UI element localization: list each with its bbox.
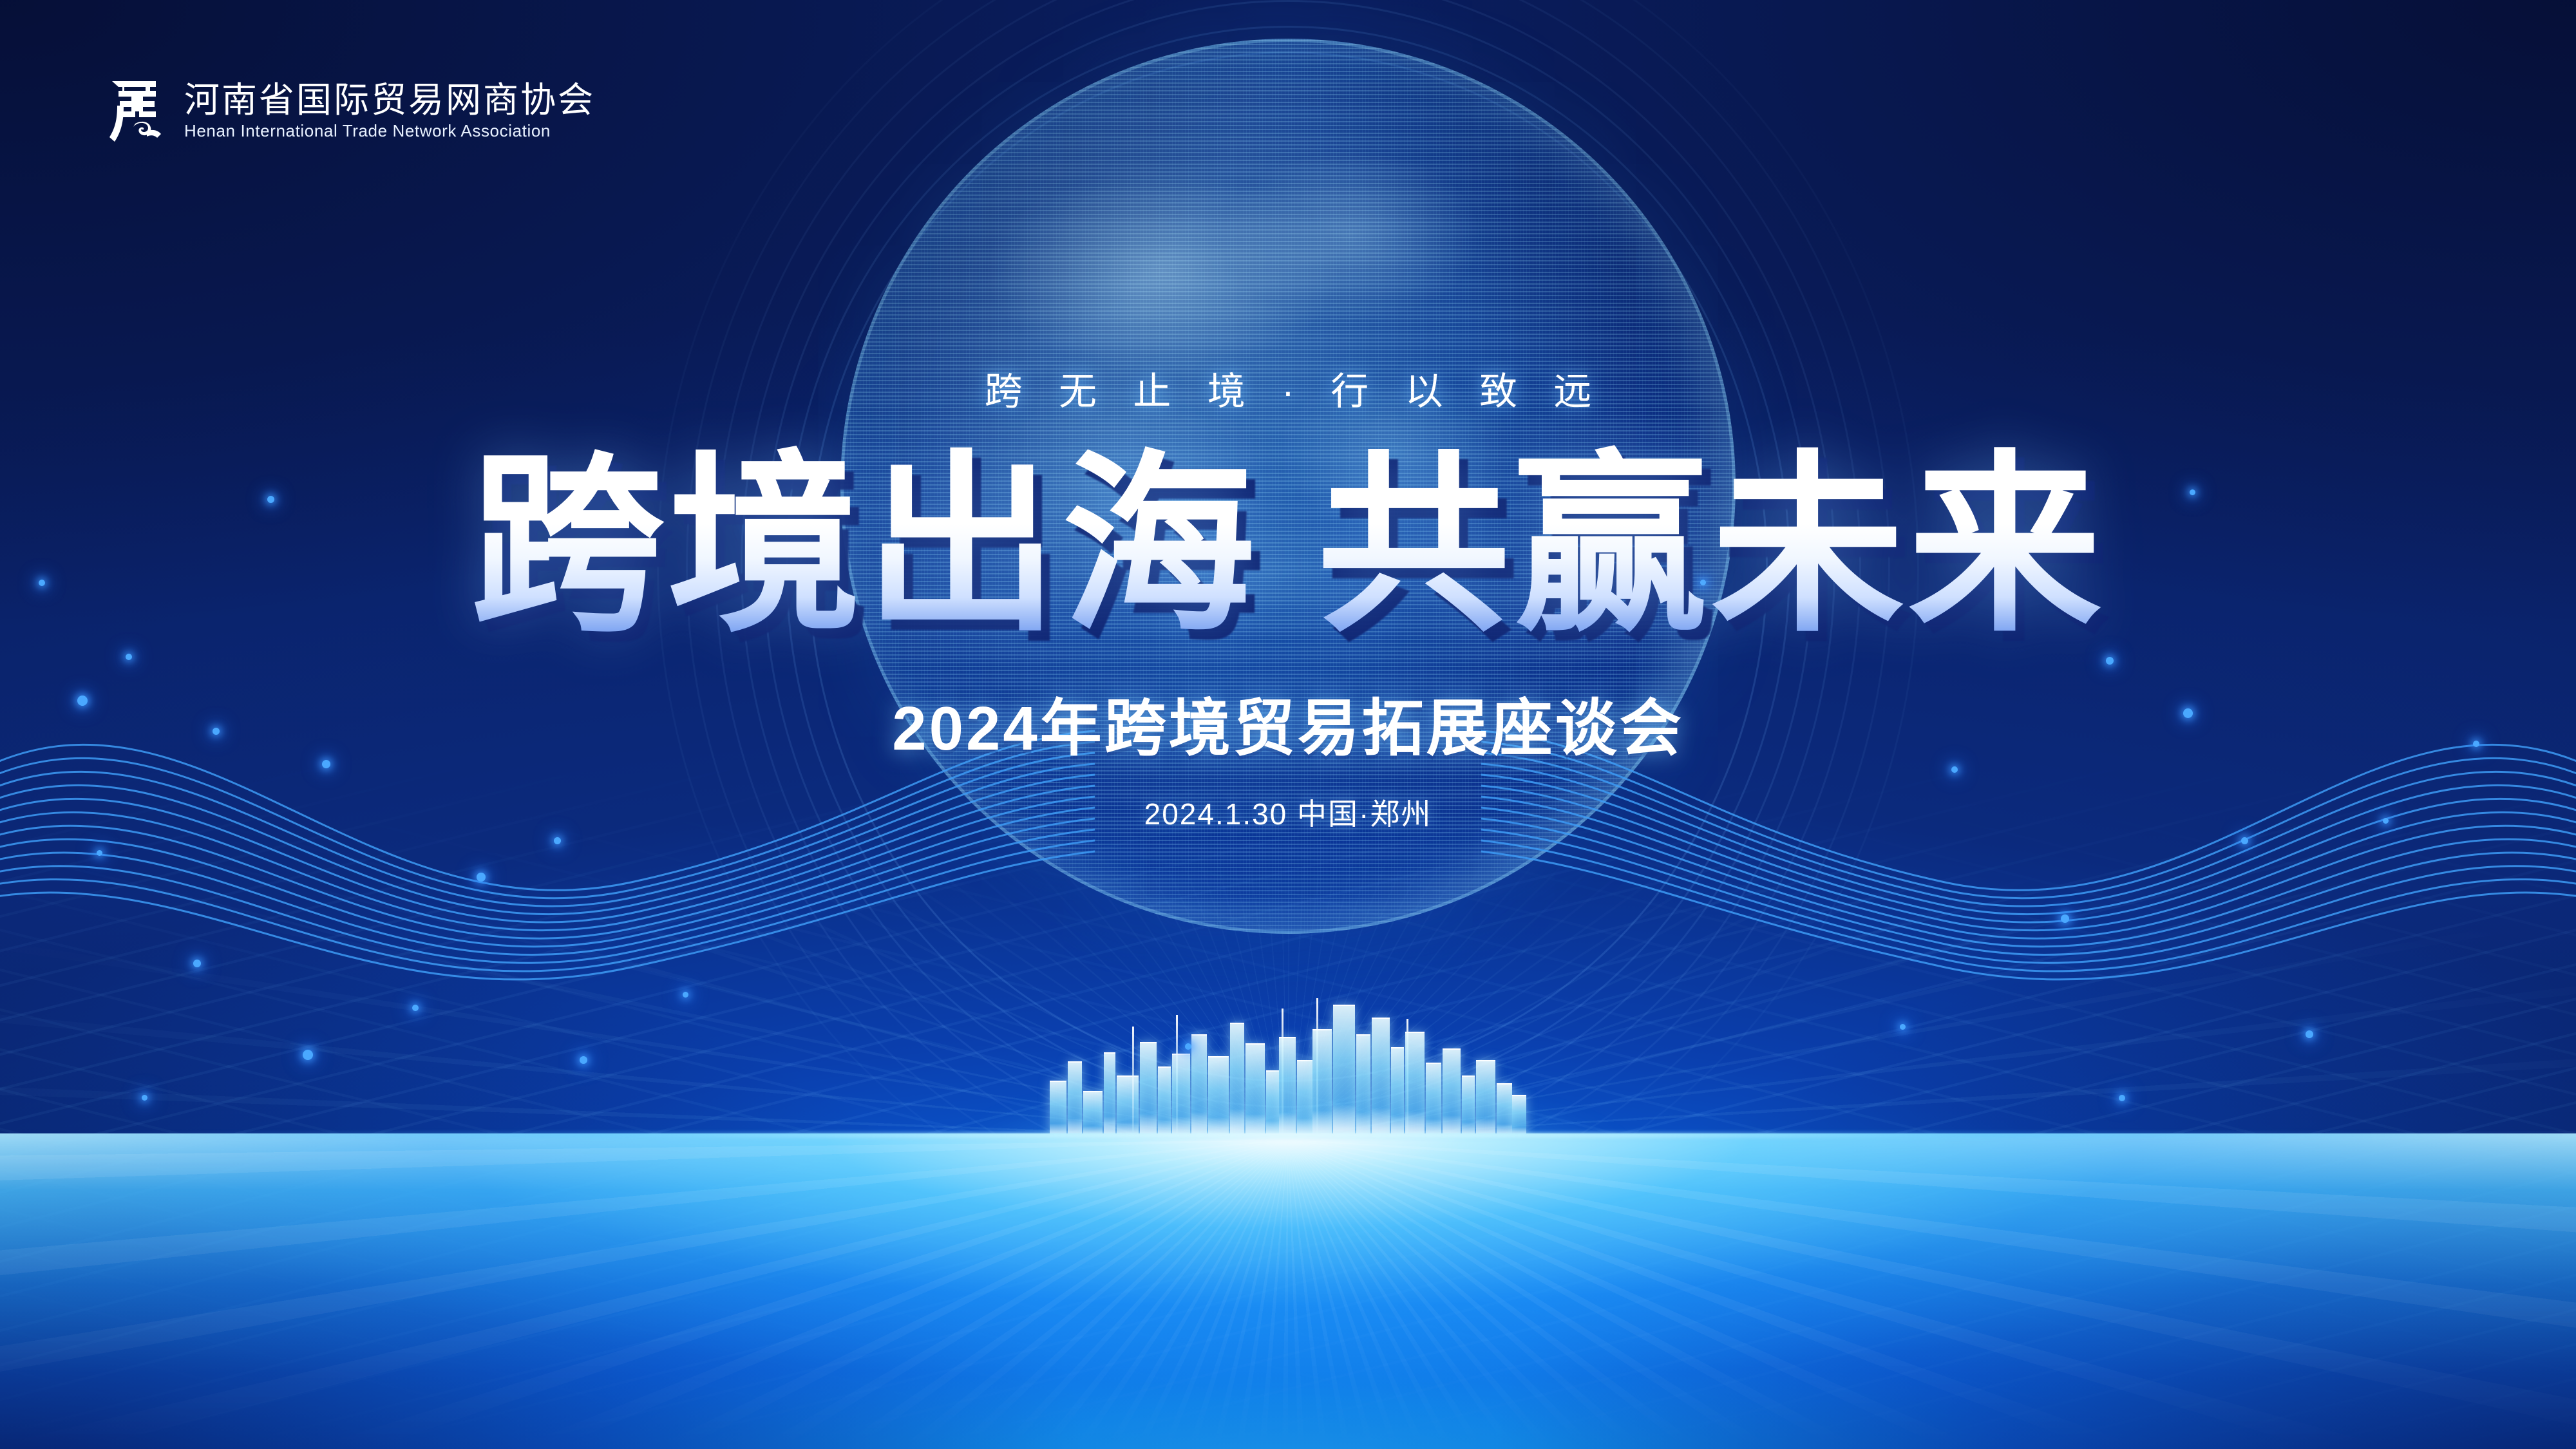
crystal-city-skyline [1050,989,1526,1137]
poster-content: 跨 无 止 境 · 行 以 致 远 跨境出海共赢未来 跨境出海共赢未来 2024… [0,0,2576,833]
event-subtitle: 2024年跨境贸易拓展座谈会 [0,678,2576,768]
headline: 跨境出海共赢未来 跨境出海共赢未来 [471,449,2105,642]
poster-canvas: 河南省国际贸易网商协会 Henan International Trade Ne… [0,0,2576,1449]
floor-light-rays [0,1140,2576,1449]
tagline: 跨 无 止 境 · 行 以 致 远 [0,361,2576,415]
headline-block: 跨境出海共赢未来 跨境出海共赢未来 [0,449,2576,661]
headline-right: 共赢未来 [1317,437,2105,654]
event-datetime-location: 2024.1.30 中国·郑州 [0,791,2576,833]
horizon-line-glow [0,1132,2576,1139]
headline-left: 跨境出海 [471,437,1259,654]
